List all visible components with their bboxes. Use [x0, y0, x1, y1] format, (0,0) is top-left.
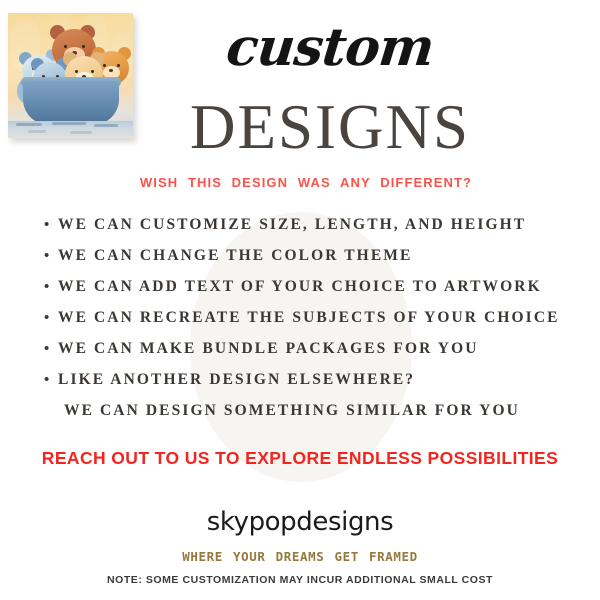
list-item-continuation: • WE CAN DESIGN SOMETHING SIMILAR FOR YO…	[44, 402, 584, 432]
call-to-action-text: REACH OUT TO US TO EXPLORE ENDLESS POSSI…	[0, 448, 600, 469]
list-item: • WE CAN ADD TEXT OF YOUR CHOICE TO ARTW…	[44, 278, 584, 309]
list-item-label: LIKE ANOTHER DESIGN ELSEWHERE?	[58, 371, 415, 389]
list-item: • LIKE ANOTHER DESIGN ELSEWHERE?	[44, 371, 584, 402]
list-item: • WE CAN CUSTOMIZE SIZE, LENGTH, AND HEI…	[44, 216, 584, 247]
disclaimer-note: NOTE: SOME CUSTOMIZATION MAY INCUR ADDIT…	[0, 574, 600, 586]
bullet-dot-icon: •	[44, 372, 58, 387]
list-item-label: WE CAN CUSTOMIZE SIZE, LENGTH, AND HEIGH…	[58, 216, 526, 234]
artwork-thumbnail[interactable]	[8, 13, 133, 138]
list-item-label: WE CAN RECREATE THE SUBJECTS OF YOUR CHO…	[58, 309, 560, 327]
floor-reflection	[8, 121, 133, 138]
bullet-dot-icon: •	[44, 279, 58, 294]
bullet-dot-icon: •	[44, 248, 58, 263]
bullet-dot-icon: •	[44, 341, 58, 356]
list-item: • WE CAN CHANGE THE COLOR THEME	[44, 247, 584, 278]
bullet-dot-icon: •	[44, 217, 58, 232]
customization-options-list: • WE CAN CUSTOMIZE SIZE, LENGTH, AND HEI…	[44, 216, 584, 432]
list-item-label: WE CAN DESIGN SOMETHING SIMILAR FOR YOU	[58, 402, 520, 420]
teddy-bear-painting	[8, 13, 133, 138]
bullet-dot-icon: •	[44, 310, 58, 325]
list-item-label: WE CAN CHANGE THE COLOR THEME	[58, 247, 412, 265]
subtitle-question: WISH THIS DESIGN WAS ANY DIFFERENT?	[0, 175, 600, 190]
list-item-label: WE CAN ADD TEXT OF YOUR CHOICE TO ARTWOR…	[58, 278, 542, 296]
list-item: • WE CAN MAKE BUNDLE PACKAGES FOR YOU	[44, 340, 584, 371]
poster-canvas: custom DESIGNS WISH THIS DESIGN WAS ANY …	[0, 0, 600, 600]
list-item-label: WE CAN MAKE BUNDLE PACKAGES FOR YOU	[58, 340, 479, 358]
brand-name: skypopdesigns	[0, 507, 600, 537]
list-item: • WE CAN RECREATE THE SUBJECTS OF YOUR C…	[44, 309, 584, 340]
brand-tagline: WHERE YOUR DREAMS GET FRAMED	[0, 549, 600, 564]
blue-tub	[23, 81, 119, 125]
